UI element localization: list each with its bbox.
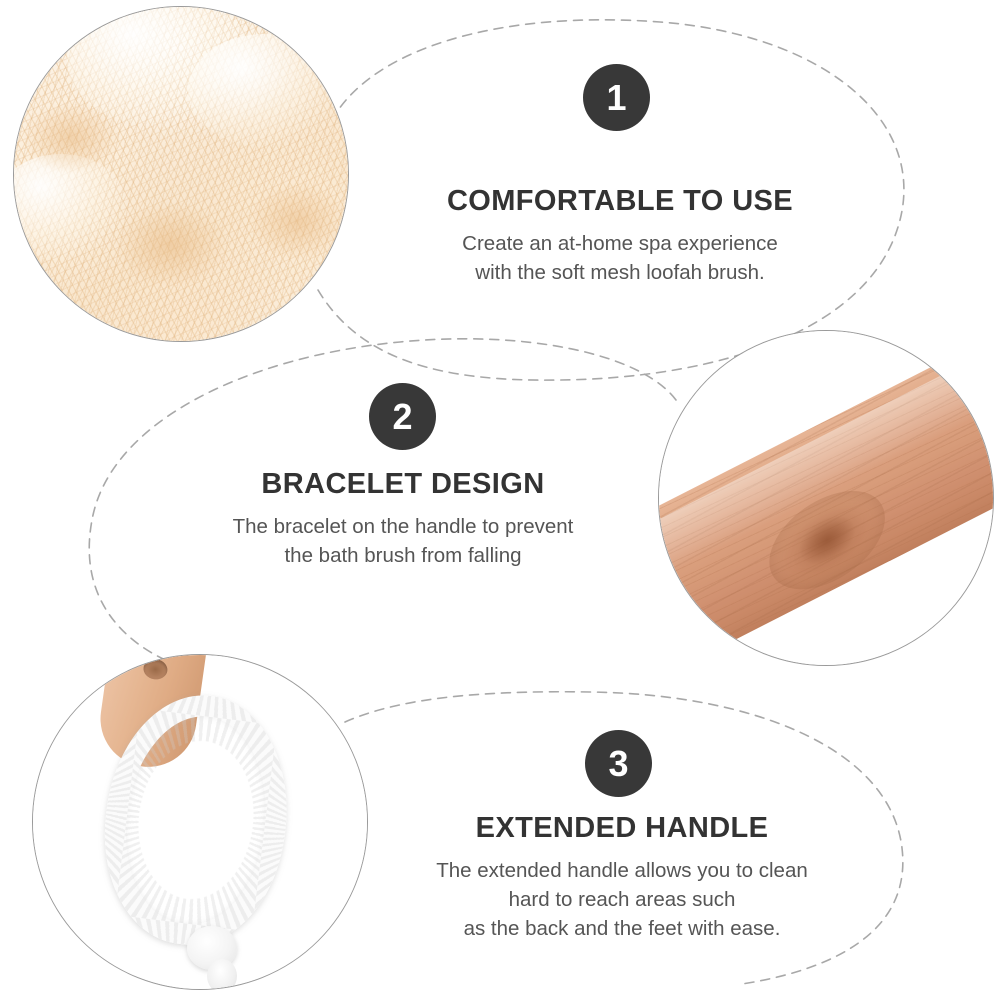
step-badge-1: 1 — [583, 64, 650, 131]
rope-bracelet-image — [33, 655, 367, 989]
rope-tail — [207, 959, 237, 990]
wood-plank — [658, 330, 994, 666]
feature-title-2: BRACELET DESIGN — [163, 468, 643, 501]
mesh-shadow — [114, 201, 228, 288]
feature-desc-line: hard to reach areas such — [509, 888, 736, 911]
feature-block-2: BRACELET DESIGN The bracelet on the hand… — [163, 468, 643, 570]
loofah-mesh-photo — [13, 6, 349, 342]
rope-bracelet-photo — [32, 654, 368, 990]
mesh-shadow — [248, 181, 348, 261]
feature-block-1: COMFORTABLE TO USE Create an at-home spa… — [380, 185, 860, 287]
step-number-3: 3 — [608, 746, 628, 782]
product-feature-infographic: 1 COMFORTABLE TO USE Create an at-home s… — [0, 0, 1000, 1000]
feature-desc-line: as the back and the feet with ease. — [464, 917, 781, 940]
loofah-mesh-image — [14, 7, 348, 341]
step-badge-2: 2 — [369, 383, 436, 450]
feature-title-3: EXTENDED HANDLE — [382, 812, 862, 845]
step-number-2: 2 — [392, 399, 412, 435]
wooden-handle-photo — [658, 330, 994, 666]
feature-description-2: The bracelet on the handle to prevent th… — [163, 512, 643, 570]
feature-desc-line: The extended handle allows you to clean — [436, 859, 808, 882]
feature-block-3: EXTENDED HANDLE The extended handle allo… — [382, 812, 862, 943]
feature-description-3: The extended handle allows you to clean … — [382, 856, 862, 943]
step-number-1: 1 — [606, 80, 626, 116]
feature-desc-line: the bath brush from falling — [284, 544, 521, 567]
feature-desc-line: The bracelet on the handle to prevent — [233, 515, 574, 538]
mesh-highlight — [188, 34, 342, 148]
feature-desc-line: with the soft mesh loofah brush. — [475, 261, 764, 284]
feature-description-1: Create an at-home spa experience with th… — [380, 229, 860, 287]
mesh-shadow — [21, 101, 121, 174]
feature-title-1: COMFORTABLE TO USE — [380, 185, 860, 218]
wooden-handle-image — [659, 331, 993, 665]
step-badge-3: 3 — [585, 730, 652, 797]
feature-desc-line: Create an at-home spa experience — [462, 232, 778, 255]
